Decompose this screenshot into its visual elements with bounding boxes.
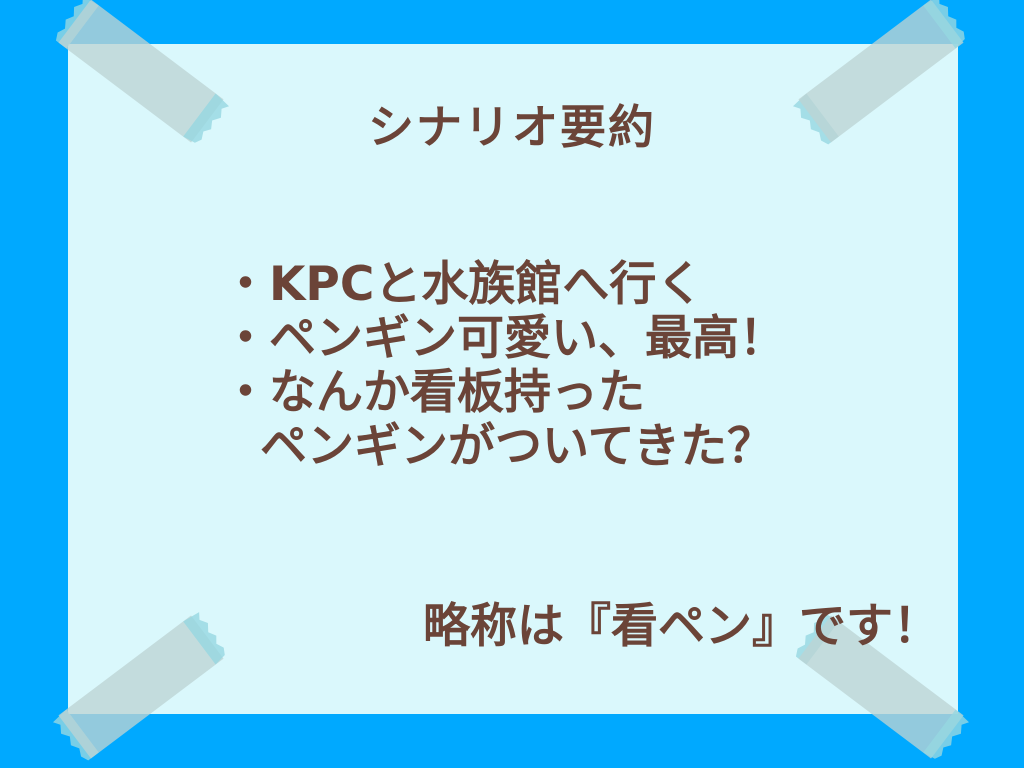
tape-torn-edge-right: [923, 0, 973, 49]
slide-footnote: 略称は『看ペン』です！: [0, 600, 940, 654]
bullet-marker: ・: [222, 257, 269, 312]
list-item-continuation: ペンギンがついてきた？: [222, 420, 942, 474]
list-item: ・なんか看板持った: [222, 366, 942, 420]
list-item-label: KPCと水族館へ行く: [269, 257, 703, 312]
list-item-label: ペンギンがついてきた？: [260, 419, 774, 474]
slide-canvas: シナリオ要約 ・KPCと水族館へ行く ・ペンギン可愛い、最高！ ・なんか看板持っ…: [0, 0, 1024, 768]
tape-torn-edge-left: [49, 0, 99, 49]
bullet-list: ・KPCと水族館へ行く ・ペンギン可愛い、最高！ ・なんか看板持った ペンギンが…: [222, 258, 942, 474]
list-item-label: ペンギン可愛い、最高！: [269, 311, 786, 366]
tape-torn-edge-right: [923, 709, 973, 765]
bullet-marker: ・: [222, 311, 269, 366]
bullet-marker: ・: [222, 365, 269, 420]
slide-title: シナリオ要約: [0, 102, 1024, 153]
list-item: ・ペンギン可愛い、最高！: [222, 312, 942, 366]
tape-torn-edge-left: [49, 709, 99, 765]
list-item-label: なんか看板持った: [269, 365, 645, 420]
list-item: ・KPCと水族館へ行く: [222, 258, 942, 312]
